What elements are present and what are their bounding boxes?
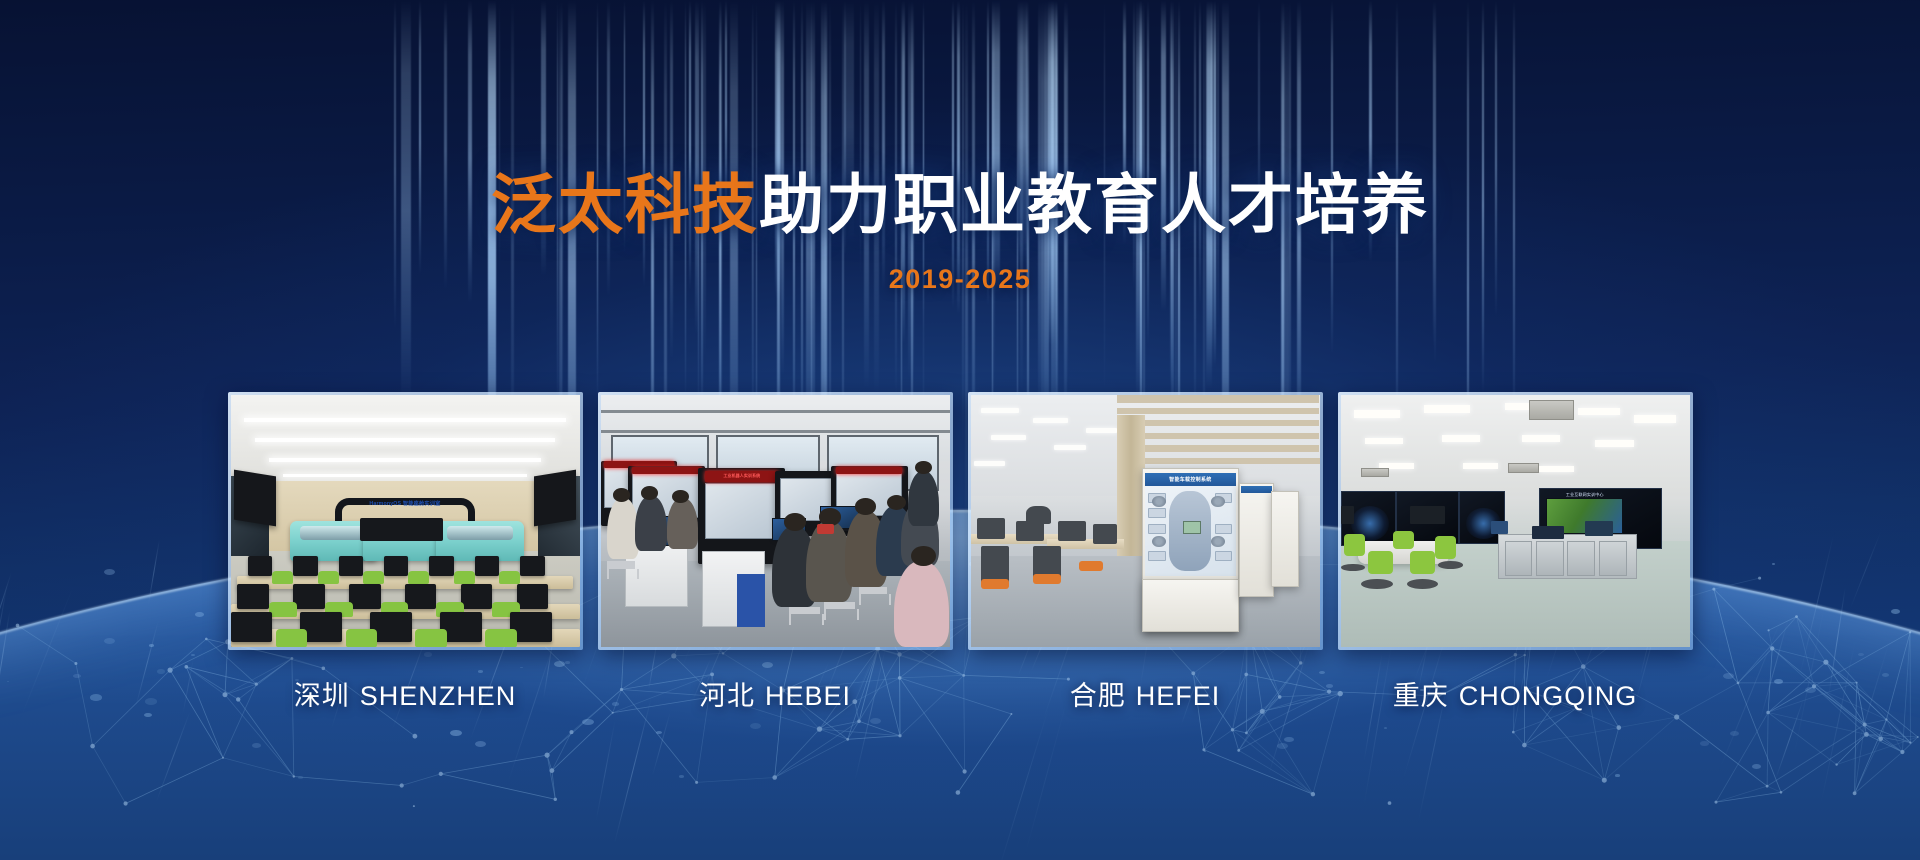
ceiling-light — [1365, 438, 1403, 444]
monitor — [1016, 521, 1044, 541]
title-rest: 助力职业教育人才培养 — [759, 168, 1429, 241]
ceiling-light — [1354, 410, 1399, 418]
wheel-component — [1152, 496, 1166, 507]
caption-en: HEBEI — [765, 681, 851, 711]
led-sign — [836, 467, 902, 475]
component-widget — [1148, 508, 1165, 518]
chair — [1435, 536, 1456, 559]
bench-monitor — [1585, 521, 1613, 536]
ceiling-light — [1522, 435, 1560, 441]
student — [635, 496, 666, 551]
caption-en: SHENZHEN — [360, 681, 517, 711]
photo-shenzhen-smart-cockpit-classroom: HarmonyOS 智能座舱实训室 — [231, 395, 580, 647]
ceiling-light — [283, 474, 527, 477]
photo-chongqing-smart-lab: 工业互联网实训中心 — [1341, 395, 1690, 647]
monitor — [1058, 521, 1086, 541]
ceiling-light — [1086, 428, 1117, 433]
ceiling-slat — [1124, 420, 1319, 426]
gallery-card-hefei[interactable]: 智能车载控制系统 — [968, 392, 1323, 713]
display-cabinet-secondary — [1239, 483, 1274, 596]
ceiling-light — [1033, 418, 1068, 423]
ceiling-slat — [1117, 395, 1319, 403]
bench-monitor — [1491, 521, 1508, 534]
caption-cn: 重庆 — [1393, 681, 1449, 711]
windshield — [300, 526, 366, 541]
ceiling-light — [255, 438, 555, 442]
caption-en: HEFEI — [1136, 681, 1221, 711]
photo-frame: 工业互联网实训中心 — [1338, 392, 1693, 650]
chair-base — [1361, 579, 1392, 589]
student-head — [641, 486, 658, 500]
chair-seat — [981, 579, 1009, 589]
monitor — [349, 584, 380, 609]
ceiling-slat — [1117, 408, 1319, 414]
ceiling-light — [1442, 435, 1480, 441]
gallery-card-chongqing[interactable]: 工业互联网实训中心 — [1338, 392, 1693, 713]
monitor — [1093, 524, 1117, 544]
chair — [415, 629, 446, 647]
photo-hefei-vehicle-control-hall: 智能车载控制系统 — [971, 395, 1320, 647]
monitor — [384, 556, 408, 576]
chair — [408, 571, 429, 584]
ceiling-light — [1595, 440, 1633, 446]
display-cabinet-secondary — [1271, 491, 1299, 587]
bench-door — [1536, 541, 1564, 576]
chair-base — [1407, 579, 1438, 589]
ceiling-light — [1424, 405, 1469, 413]
page-subtitle: 2019-2025 — [0, 264, 1920, 295]
bench-control-panel — [1532, 526, 1563, 539]
ceiling-slat — [1138, 445, 1319, 451]
photo-gallery: HarmonyOS 智能座舱实训室 — [0, 392, 1920, 713]
training-car — [436, 521, 523, 561]
chair — [276, 629, 307, 647]
student-head — [855, 498, 876, 514]
air-vent — [1529, 400, 1574, 420]
stool — [859, 587, 887, 595]
card-caption: 河北HEBEI — [598, 674, 953, 713]
air-vent — [1361, 468, 1389, 477]
student — [667, 498, 698, 548]
card-caption: 重庆CHONGQING — [1338, 674, 1693, 713]
monitor — [517, 584, 548, 609]
student-head — [887, 495, 906, 510]
stool — [789, 607, 820, 615]
air-vent — [1508, 463, 1539, 473]
photo-frame: 工业机器人实训系统 — [598, 392, 953, 650]
chair — [318, 571, 339, 584]
monitor — [248, 556, 272, 576]
ceiling-light — [244, 418, 565, 422]
caption-en: CHONGQING — [1459, 681, 1638, 711]
promo-banner: 泛太科技助力职业教育人才培养 2019-2025 HarmonyOS 智能座舱实… — [0, 0, 1920, 860]
chair — [1368, 551, 1392, 574]
monitor — [293, 584, 324, 609]
ceiling-light — [981, 408, 1019, 413]
chair — [363, 571, 384, 584]
page-title: 泛太科技助力职业教育人才培养 — [0, 170, 1920, 240]
wall-monitor — [1341, 506, 1355, 524]
display-screen — [1183, 521, 1200, 534]
wall-monitor-left — [234, 470, 276, 527]
student-head — [911, 546, 935, 566]
ceiling-beam — [601, 430, 950, 433]
chair — [1410, 551, 1434, 574]
component-widget — [1148, 524, 1165, 534]
chair — [499, 571, 520, 584]
caption-cn: 深圳 — [294, 681, 350, 711]
monitor — [293, 556, 317, 576]
cabinet-base — [1142, 579, 1240, 632]
wall-monitor-right — [534, 470, 576, 527]
photo-frame: HarmonyOS 智能座舱实训室 — [228, 392, 583, 650]
chair-base — [1438, 561, 1462, 569]
chair-seat — [1079, 561, 1103, 571]
chair — [454, 571, 475, 584]
photo-frame: 智能车载控制系统 — [968, 392, 1323, 650]
monitor — [339, 556, 363, 576]
ceiling-slat — [1131, 433, 1319, 439]
ceiling-beam — [601, 410, 950, 413]
gallery-card-hebei[interactable]: 工业机器人实训系统 — [598, 392, 953, 713]
ceiling-light — [1578, 408, 1620, 416]
ceiling-light — [1634, 415, 1676, 423]
student — [607, 498, 638, 558]
cabinet-title-text: 智能车载控制系统 — [1145, 476, 1236, 483]
monitor — [231, 612, 273, 642]
card-caption: 合肥HEFEI — [968, 674, 1323, 713]
ceiling-light — [1539, 466, 1574, 472]
monitor — [520, 556, 544, 576]
arch-banner-text: HarmonyOS 智能座舱实训室 — [335, 500, 475, 507]
chair-seat — [1033, 574, 1061, 584]
monitor — [977, 518, 1005, 538]
monitor — [461, 584, 492, 609]
led-sign — [632, 467, 702, 475]
ceiling-light — [974, 461, 1005, 466]
component-widget — [1215, 551, 1232, 561]
gallery-card-shenzhen[interactable]: HarmonyOS 智能座舱实训室 — [228, 392, 583, 713]
monitor — [475, 556, 499, 576]
caption-cn: 合肥 — [1070, 681, 1126, 711]
wall-screen-text: 工业互联网实训中心 — [1546, 492, 1623, 498]
monitor — [237, 584, 268, 609]
bench-door — [1599, 541, 1627, 576]
center-monitor-bank — [360, 518, 444, 541]
equipment — [1026, 506, 1050, 524]
cabinet-header — [1241, 486, 1272, 494]
chair — [1393, 531, 1414, 549]
stool — [824, 602, 855, 610]
student-head — [613, 488, 630, 502]
component-widget — [1148, 551, 1165, 561]
headline-block: 泛太科技助力职业教育人才培养 2019-2025 — [0, 0, 1920, 295]
monitor — [429, 556, 453, 576]
teacher — [908, 471, 939, 526]
chair — [1344, 534, 1365, 557]
ceiling-light — [1463, 463, 1498, 469]
photo-hebei-electrical-training-lab: 工业机器人实训系统 — [601, 395, 950, 647]
card-caption: 深圳SHENZHEN — [228, 674, 583, 713]
chair — [485, 629, 516, 647]
bench-door — [1567, 541, 1595, 576]
ceiling-light — [991, 435, 1026, 440]
stool — [607, 561, 635, 569]
monitor — [405, 584, 436, 609]
caption-cn: 河北 — [699, 681, 755, 711]
component-widget — [1215, 524, 1232, 534]
wall-monitor — [1410, 506, 1445, 524]
ceiling-light — [269, 458, 541, 462]
control-board — [705, 483, 778, 538]
windshield — [447, 526, 513, 541]
led-sign-text: 工业机器人实训系统 — [705, 474, 778, 478]
chair — [346, 629, 377, 647]
bench-door — [1505, 541, 1533, 576]
ceiling-light — [1054, 445, 1085, 450]
student-scarf — [817, 524, 834, 534]
chair — [272, 571, 293, 584]
title-brand: 泛太科技 — [491, 168, 759, 241]
cabinet-door — [737, 574, 765, 627]
chair — [269, 602, 297, 617]
ceiling-slat — [1145, 458, 1320, 464]
